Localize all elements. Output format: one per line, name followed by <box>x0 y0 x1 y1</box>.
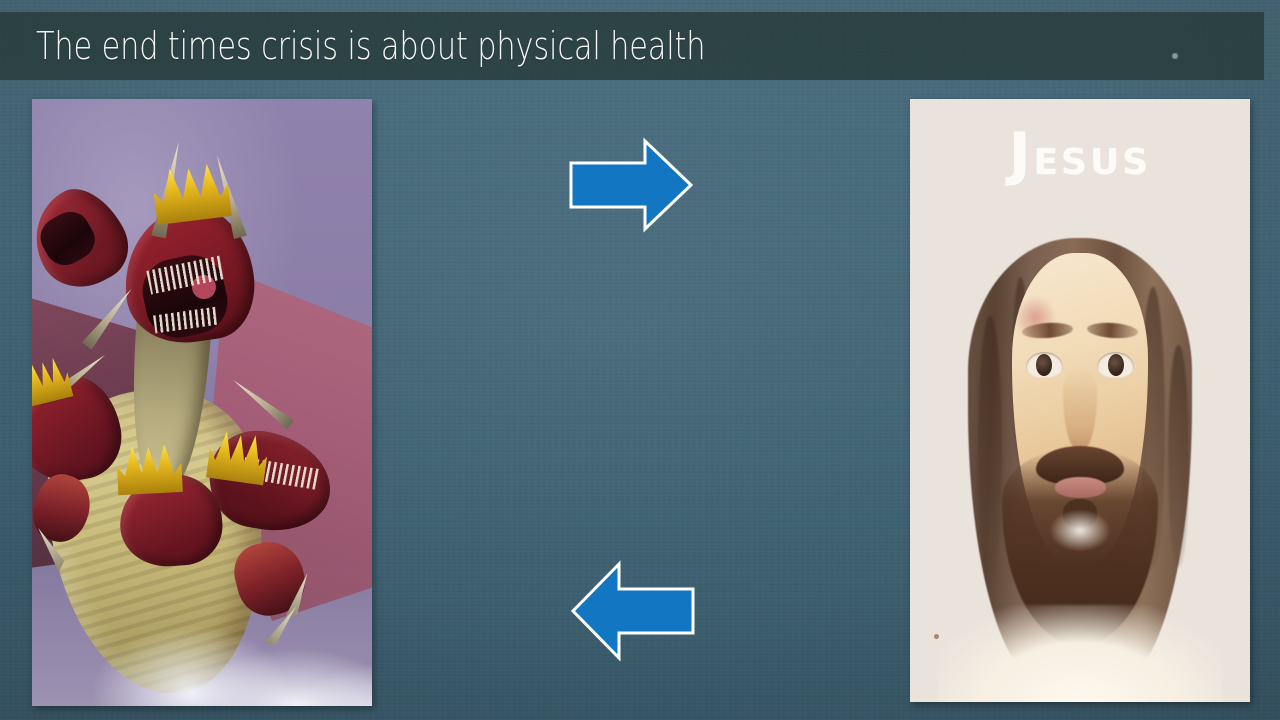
dragon-clouds <box>93 597 372 706</box>
jesus-caption-initial: J <box>1009 120 1034 188</box>
jesus-image[interactable]: Jesus <box>910 99 1250 702</box>
dragon-image[interactable] <box>32 99 372 706</box>
presentation-slide: The end times crisis is about physical h… <box>0 0 1280 720</box>
jesus-robe <box>937 605 1223 702</box>
arrow-right-icon[interactable] <box>567 137 695 233</box>
arrow-left-icon[interactable] <box>569 559 697 663</box>
jesus-hair-strand-4 <box>1168 345 1188 567</box>
page-title: The end times crisis is about physical h… <box>36 27 705 65</box>
jesus-caption-rest: esus <box>1033 127 1151 187</box>
jesus-caption: Jesus <box>910 125 1250 183</box>
jesus-hair-strand-1 <box>978 316 1002 586</box>
jesus-iris-right <box>1108 354 1124 376</box>
title-banner: The end times crisis is about physical h… <box>0 12 1264 80</box>
dust-speck-artifact <box>1172 53 1178 59</box>
dragon-artwork <box>32 99 372 706</box>
jesus-lips <box>1055 477 1106 497</box>
jesus-beard-highlight <box>1049 509 1110 552</box>
jesus-artwork <box>910 219 1250 702</box>
